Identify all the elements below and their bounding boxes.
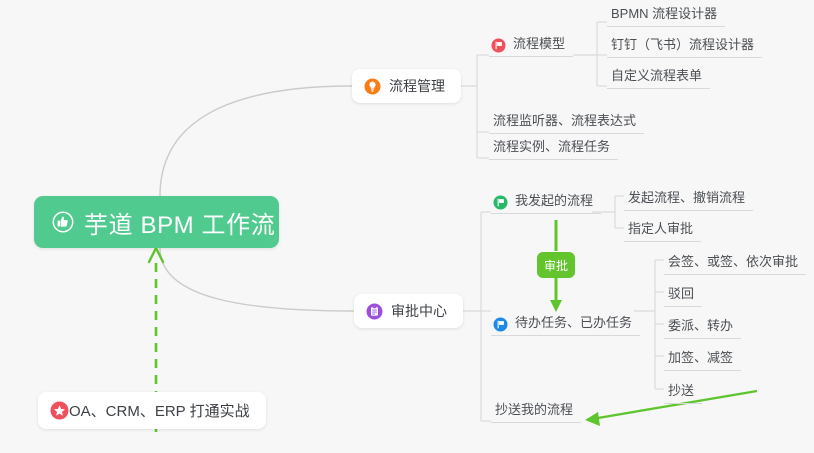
node-label: 流程实例、流程任务 [493,137,610,159]
annotation-badge-label: 审批 [544,257,568,274]
branch-label: 审批中心 [391,301,447,321]
node-delegate-transfer[interactable]: 委派、转办 [664,312,741,339]
node-label: 指定人审批 [628,219,693,241]
node-liuchengmoxing[interactable]: 流程模型 [489,30,573,57]
node-label: 抄送 [668,381,694,403]
star-icon [50,401,69,420]
node-todo-done[interactable]: 待办任务、已办任务 [491,309,640,336]
node-label: 发起流程、撤销流程 [628,188,745,210]
node-label: 自定义流程表单 [611,66,702,88]
lightbulb-icon [364,78,381,95]
node-reject[interactable]: 驳回 [664,280,702,307]
branch-label: 流程管理 [389,76,445,96]
node-dingtalk-designer[interactable]: 钉钉（飞书）流程设计器 [607,31,762,58]
branch-node-liuchengguanli[interactable]: 流程管理 [352,69,461,103]
root-node[interactable]: 芋道 BPM 工作流 [34,196,279,248]
node-label: BPMN 流程设计器 [611,4,717,26]
thumbs-up-icon [52,211,74,233]
node-label: 钉钉（飞书）流程设计器 [611,35,754,57]
flag-icon-red [491,38,506,53]
node-label: 流程监听器、流程表达式 [493,111,636,133]
flag-icon-blue [493,317,508,332]
root-label: 芋道 BPM 工作流 [84,205,275,240]
node-label: 流程模型 [513,34,565,56]
node-label: 我发起的流程 [515,191,593,213]
callout-label: OA、CRM、ERP 打通实战 [69,400,250,421]
clipboard-icon [366,303,383,320]
node-cc[interactable]: 抄送 [664,377,702,404]
node-instance-task[interactable]: 流程实例、流程任务 [489,133,618,160]
node-custom-form[interactable]: 自定义流程表单 [607,62,710,89]
node-start-cancel[interactable]: 发起流程、撤销流程 [624,184,753,211]
node-assignee-approve[interactable]: 指定人审批 [624,215,701,242]
node-counter-sign[interactable]: 会签、或签、依次审批 [664,248,806,275]
node-listener-expression[interactable]: 流程监听器、流程表达式 [489,107,644,134]
node-label: 抄送我的流程 [495,400,573,422]
mindmap-canvas: 芋道 BPM 工作流 流程管理 流程模型 BPMN 流程设计器 钉钉（飞书）流程 [0,0,814,453]
node-label: 待办任务、已办任务 [515,313,632,335]
flag-icon-green [493,195,508,210]
node-label: 驳回 [668,284,694,306]
callout-node-oa-crm-erp[interactable]: OA、CRM、ERP 打通实战 [38,392,266,429]
node-cc-to-me[interactable]: 抄送我的流程 [491,396,581,423]
node-my-started[interactable]: 我发起的流程 [491,187,601,214]
node-label: 会签、或签、依次审批 [668,252,798,274]
branch-node-shenpizhongxin[interactable]: 审批中心 [354,294,463,328]
annotation-badge-shenpi: 审批 [537,252,575,278]
node-bpmn-designer[interactable]: BPMN 流程设计器 [607,0,725,27]
node-label: 委派、转办 [668,316,733,338]
node-label: 加签、减签 [668,348,733,370]
node-add-remove-sign[interactable]: 加签、减签 [664,344,741,371]
